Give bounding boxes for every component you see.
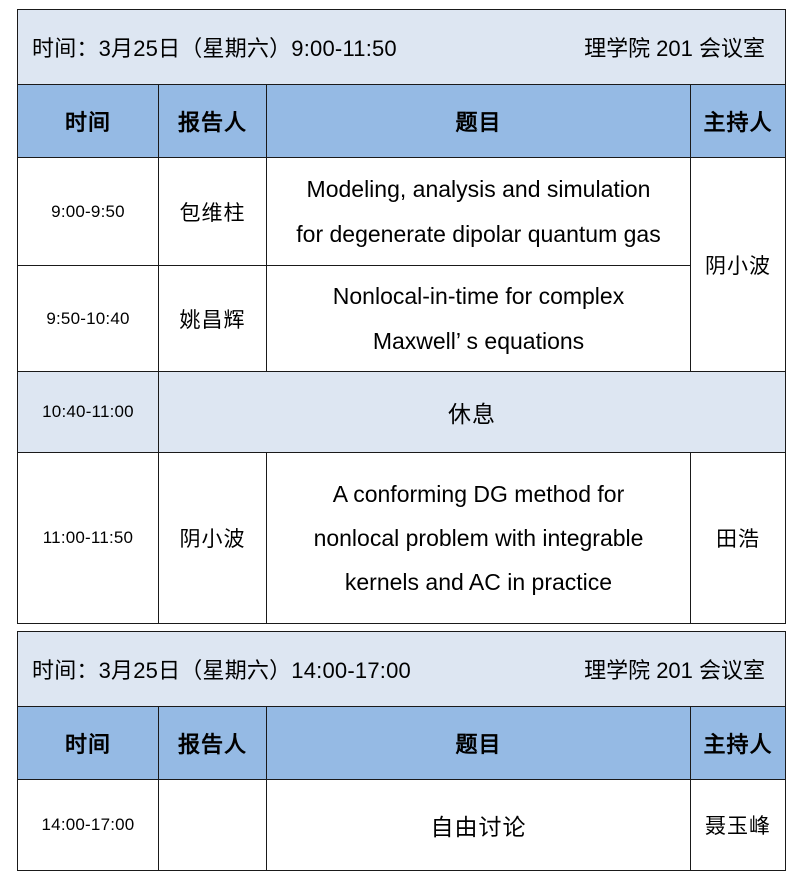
row-2-title-line-1: Nonlocal-in-time for complex (271, 274, 686, 318)
column-header-time-2: 时间 (18, 707, 159, 780)
session-2-table: 时间：3月25日（星期六）14:00-17:00 理学院 201 会议室 时间 … (17, 631, 786, 871)
row-1-title: Modeling, analysis and simulation for de… (267, 158, 691, 266)
row-3-title-line-1: A conforming DG method for (271, 472, 686, 516)
row-2-title: Nonlocal-in-time for complex Maxwell’ s … (267, 266, 691, 372)
row-1-title-line-1: Modeling, analysis and simulation (271, 167, 686, 211)
row-1-speaker: 包维柱 (159, 158, 267, 266)
column-header-chair: 主持人 (691, 85, 786, 158)
session-2-datetime: 时间：3月25日（星期六）14:00-17:00 (32, 653, 411, 685)
table-row: 14:00-17:00 自由讨论 聂玉峰 (18, 780, 786, 871)
table-row: 11:00-11:50 阴小波 A conforming DG method f… (18, 453, 786, 624)
row-3-title-line-3: kernels and AC in practice (271, 560, 686, 604)
row-3-title: A conforming DG method for nonlocal prob… (267, 453, 691, 624)
row-3-chair: 田浩 (691, 453, 786, 624)
session-1-table: 时间：3月25日（星期六）9:00-11:50 理学院 201 会议室 时间 报… (17, 9, 786, 624)
session-2-room: 理学院 201 会议室 (584, 653, 771, 685)
session-2-banner-row: 时间：3月25日（星期六）14:00-17:00 理学院 201 会议室 (18, 632, 786, 707)
row-2-time: 9:50-10:40 (18, 266, 159, 372)
break-label: 休息 (159, 372, 786, 453)
session-1-room: 理学院 201 会议室 (584, 31, 771, 63)
row-1-title-line-2: for degenerate dipolar quantum gas (271, 212, 686, 256)
row-4-speaker (159, 780, 267, 871)
column-header-title: 题目 (267, 85, 691, 158)
row-4-title: 自由讨论 (267, 780, 691, 871)
schedule-page: 时间：3月25日（星期六）9:00-11:50 理学院 201 会议室 时间 报… (0, 0, 808, 869)
session-1-banner-cell: 时间：3月25日（星期六）9:00-11:50 理学院 201 会议室 (18, 10, 786, 85)
row-1-chair: 阴小波 (691, 158, 786, 372)
row-4-chair: 聂玉峰 (691, 780, 786, 871)
table-row: 9:50-10:40 姚昌辉 Nonlocal-in-time for comp… (18, 266, 786, 372)
column-header-title-2: 题目 (267, 707, 691, 780)
row-3-speaker: 阴小波 (159, 453, 267, 624)
row-4-time: 14:00-17:00 (18, 780, 159, 871)
break-row: 10:40-11:00 休息 (18, 372, 786, 453)
session-1-datetime: 时间：3月25日（星期六）9:00-11:50 (32, 31, 397, 63)
row-3-title-line-2: nonlocal problem with integrable (271, 516, 686, 560)
column-header-speaker: 报告人 (159, 85, 267, 158)
table-gap (17, 624, 785, 631)
row-3-time: 11:00-11:50 (18, 453, 159, 624)
column-header-speaker-2: 报告人 (159, 707, 267, 780)
row-1-time: 9:00-9:50 (18, 158, 159, 266)
session-1-banner-row: 时间：3月25日（星期六）9:00-11:50 理学院 201 会议室 (18, 10, 786, 85)
row-2-title-line-2: Maxwell’ s equations (271, 319, 686, 363)
session-2-header-row: 时间 报告人 题目 主持人 (18, 707, 786, 780)
session-2-banner-cell: 时间：3月25日（星期六）14:00-17:00 理学院 201 会议室 (18, 632, 786, 707)
table-row: 9:00-9:50 包维柱 Modeling, analysis and sim… (18, 158, 786, 266)
break-time: 10:40-11:00 (18, 372, 159, 453)
session-1-header-row: 时间 报告人 题目 主持人 (18, 85, 786, 158)
column-header-time: 时间 (18, 85, 159, 158)
row-2-speaker: 姚昌辉 (159, 266, 267, 372)
column-header-chair-2: 主持人 (691, 707, 786, 780)
